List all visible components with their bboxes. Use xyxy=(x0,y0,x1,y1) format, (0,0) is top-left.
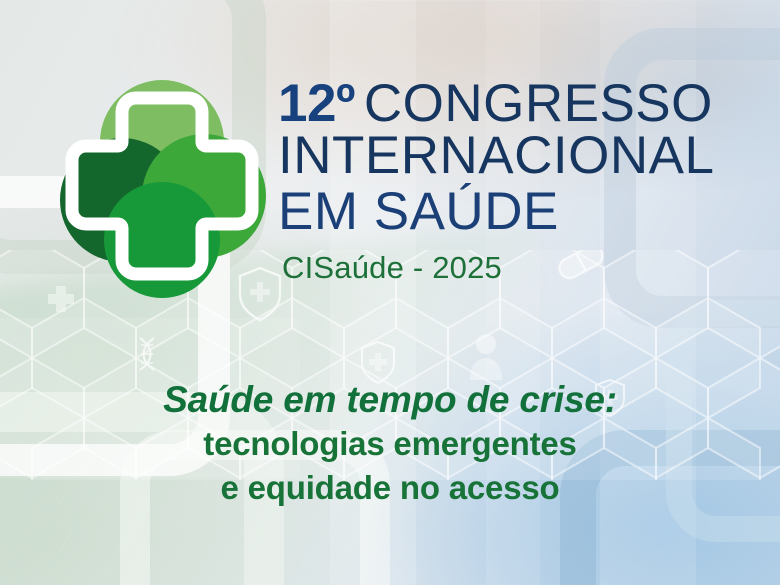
theme-block: Saúde em tempo de crise: tecnologias eme… xyxy=(0,378,780,510)
title-line-em-saude: EM SAÚDE xyxy=(278,183,778,240)
theme-line-3: e equidade no acesso xyxy=(0,466,780,510)
theme-line-2: tecnologias emergentes xyxy=(0,422,780,466)
conference-poster: 12ºCONGRESSO INTERNACIONAL EM SAÚDE CISa… xyxy=(0,0,780,585)
edition-ordinal: 12º xyxy=(278,74,355,133)
title-line-internacional: INTERNACIONAL xyxy=(278,129,778,184)
event-subtitle: CISaúde - 2025 xyxy=(282,250,778,286)
title-word-congresso: CONGRESSO xyxy=(364,74,713,133)
theme-line-1: Saúde em tempo de crise: xyxy=(0,378,780,422)
medical-cross-logo xyxy=(44,62,280,298)
title-block: 12ºCONGRESSO INTERNACIONAL EM SAÚDE CISa… xyxy=(278,80,778,286)
title-line-congresso: 12ºCONGRESSO xyxy=(278,80,778,129)
